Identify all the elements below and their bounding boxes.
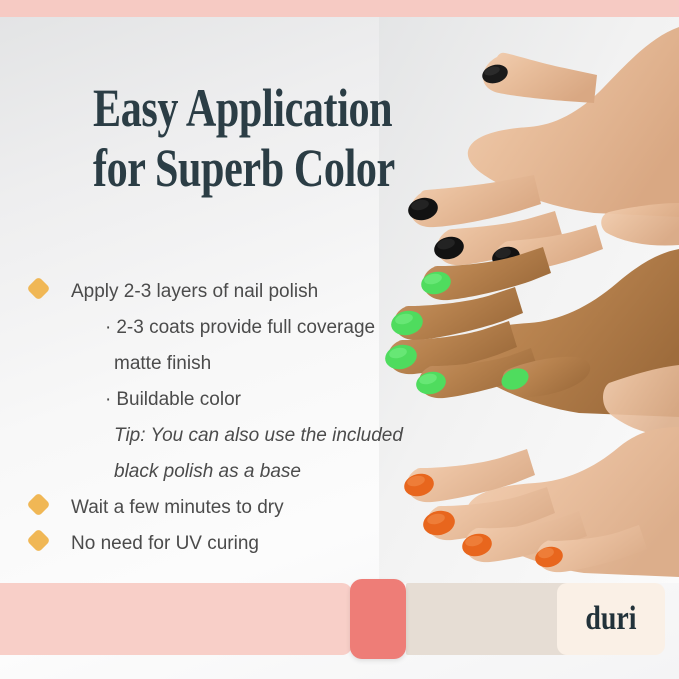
tip-line-1: Tip: You can also use the included — [114, 418, 460, 454]
title-line-1: Easy Application — [93, 78, 395, 138]
dot-bullet-icon: · — [105, 389, 111, 410]
page-title: Easy Application for Superb Color — [93, 78, 480, 198]
instructions-list: Apply 2-3 layers of nail polish ·2-3 coa… — [30, 274, 460, 562]
diamond-bullet-icon — [26, 276, 50, 300]
infographic-canvas: Easy Application for Superb Color Apply … — [0, 0, 679, 679]
sub-list-item-continuation: matte finish — [114, 346, 460, 382]
list-item: No need for UV curing — [30, 526, 460, 562]
title-line-2: for Superb Color — [93, 138, 395, 198]
footer-swatch-coral — [350, 579, 406, 659]
footer-swatch-bar: duri — [0, 583, 679, 655]
list-item-label: No need for UV curing — [71, 526, 259, 562]
sub-list-item-label: Buildable color — [116, 389, 241, 410]
list-item-label: Wait a few minutes to dry — [71, 490, 284, 526]
list-item-label: Apply 2-3 layers of nail polish — [71, 274, 318, 310]
list-item: Wait a few minutes to dry — [30, 490, 460, 526]
brand-logo: duri — [567, 583, 656, 655]
sub-list-item: ·2-3 coats provide full coverage — [105, 310, 460, 346]
diamond-bullet-icon — [26, 528, 50, 552]
list-item: Apply 2-3 layers of nail polish — [30, 274, 460, 310]
sub-list-item: ·Buildable color — [105, 382, 460, 418]
tip-line-2: black polish as a base — [114, 454, 460, 490]
diamond-bullet-icon — [26, 492, 50, 516]
top-accent-banner — [0, 0, 679, 17]
dot-bullet-icon: · — [105, 317, 111, 338]
sub-list-item-label: 2-3 coats provide full coverage — [116, 317, 375, 338]
footer-swatch-pink — [0, 583, 352, 655]
footer-swatch-beige — [406, 583, 582, 655]
